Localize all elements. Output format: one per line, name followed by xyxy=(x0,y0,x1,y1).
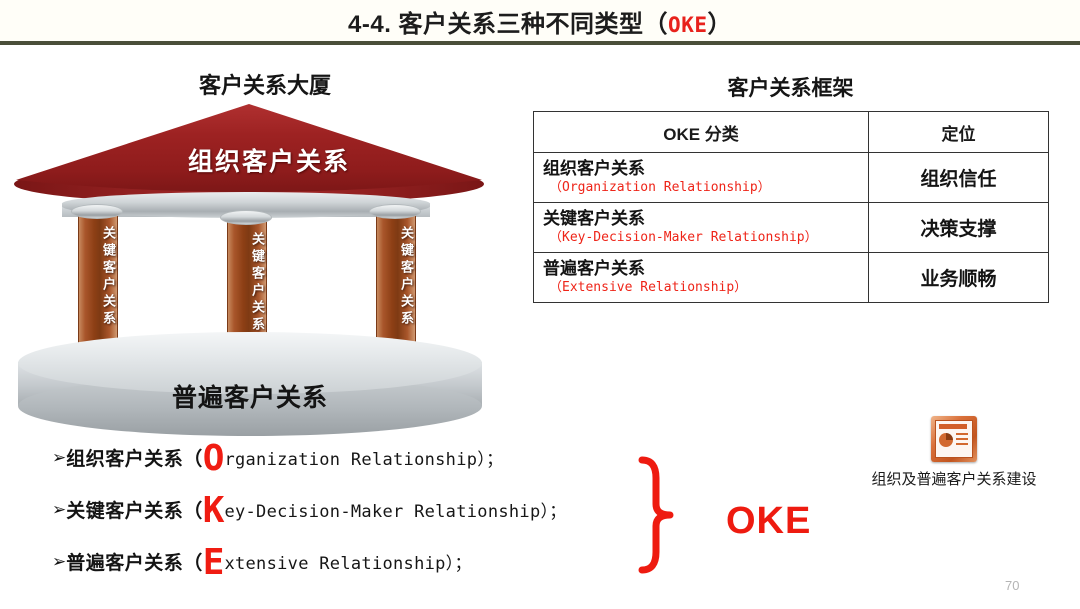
cell-classification: 普遍客户关系 （Extensive Relationship） xyxy=(534,253,869,303)
page-title-accent: OKE xyxy=(668,13,707,37)
icon-caption: 组织及普遍客户关系建设 xyxy=(866,469,1042,490)
page-title-prefix: 4-4. 客户关系三种不同类型（ xyxy=(348,11,668,38)
icon-card[interactable]: 组织及普遍客户关系建设 xyxy=(866,416,1042,490)
classification-en: （Organization Relationship） xyxy=(543,179,859,197)
column-label: 关键客户关系 xyxy=(228,232,266,334)
table-row: 组织客户关系 （Organization Relationship） 组织信任 xyxy=(534,153,1049,203)
presentation-icon-titlebar xyxy=(939,424,967,429)
cell-position: 决策支撑 xyxy=(869,203,1049,253)
classification-en: （Extensive Relationship） xyxy=(543,279,859,297)
cell-position: 组织信任 xyxy=(869,153,1049,203)
framework-table: OKE 分类 定位 组织客户关系 （Organization Relations… xyxy=(533,111,1049,303)
oke-summary-label: OKE xyxy=(726,500,811,543)
temple-column-right: 关键客户关系 xyxy=(376,212,414,352)
page-number: 70 xyxy=(1005,578,1019,593)
presentation-icon-pie-chart xyxy=(939,433,953,447)
bullet-marker-icon: ➢ xyxy=(52,500,66,519)
classification-cn: 关键客户关系 xyxy=(543,208,859,229)
table-heading: 客户关系框架 xyxy=(533,72,1048,102)
bullet-cn-text: 组织客户关系（ xyxy=(66,449,203,470)
table-header-row: OKE 分类 定位 xyxy=(534,112,1049,153)
page-title: 4-4. 客户关系三种不同类型（OKE） xyxy=(0,4,1080,39)
header-divider xyxy=(0,41,1080,45)
presentation-icon-inner xyxy=(935,420,973,458)
bullet-marker-icon: ➢ xyxy=(52,552,66,571)
list-item: ➢普遍客户关系（Extensive Relationship）； xyxy=(52,548,632,600)
bullet-en-text: ey-Decision-Maker Relationship）； xyxy=(224,502,566,522)
bullet-en-text: rganization Relationship）； xyxy=(224,450,503,470)
column-shaft: 关键客户关系 xyxy=(376,212,416,352)
classification-en: （Key-Decision-Maker Relationship） xyxy=(543,229,859,247)
bullet-list: ➢组织客户关系（Organization Relationship）； ➢关键客… xyxy=(52,444,632,600)
column-capital xyxy=(71,204,123,219)
column-capital xyxy=(369,204,421,219)
cell-classification: 组织客户关系 （Organization Relationship） xyxy=(534,153,869,203)
curly-brace-icon xyxy=(636,456,692,574)
bullet-cn-text: 普遍客户关系（ xyxy=(66,553,203,574)
classification-cn: 普遍客户关系 xyxy=(543,258,859,279)
diagram-heading: 客户关系大厦 xyxy=(120,68,410,100)
roof-label: 组织客户关系 xyxy=(14,142,484,178)
page-title-suffix: ） xyxy=(707,11,732,38)
customer-relationship-temple-diagram: 组织客户关系 关键客户关系 关键客户关系 关键客户关系 普遍客户关系 xyxy=(0,100,510,430)
list-item: ➢组织客户关系（Organization Relationship）； xyxy=(52,444,632,496)
platform-label: 普遍客户关系 xyxy=(18,378,482,414)
column-shaft: 关键客户关系 xyxy=(78,212,118,352)
column-header-position: 定位 xyxy=(869,112,1049,153)
bullet-marker-icon: ➢ xyxy=(52,448,66,467)
cell-position: 业务顺畅 xyxy=(869,253,1049,303)
bullet-initial-letter: K xyxy=(203,490,225,531)
classification-cn: 组织客户关系 xyxy=(543,158,859,179)
temple-column-left: 关键客户关系 xyxy=(78,212,116,352)
presentation-icon[interactable] xyxy=(931,416,977,462)
table-row: 普遍客户关系 （Extensive Relationship） 业务顺畅 xyxy=(534,253,1049,303)
list-item: ➢关键客户关系（Key-Decision-Maker Relationship）… xyxy=(52,496,632,548)
cell-classification: 关键客户关系 （Key-Decision-Maker Relationship） xyxy=(534,203,869,253)
bullet-en-text: xtensive Relationship）； xyxy=(224,554,471,574)
table-row: 关键客户关系 （Key-Decision-Maker Relationship）… xyxy=(534,203,1049,253)
column-header-classification: OKE 分类 xyxy=(534,112,869,153)
temple-roof: 组织客户关系 xyxy=(14,100,484,205)
column-capital xyxy=(220,210,272,225)
presentation-icon-bullet-lines xyxy=(956,433,968,448)
bullet-initial-letter: E xyxy=(203,542,225,583)
column-label: 关键客户关系 xyxy=(377,226,415,328)
column-label: 关键客户关系 xyxy=(79,226,117,328)
bullet-initial-letter: O xyxy=(203,438,225,479)
bullet-cn-text: 关键客户关系（ xyxy=(66,501,203,522)
